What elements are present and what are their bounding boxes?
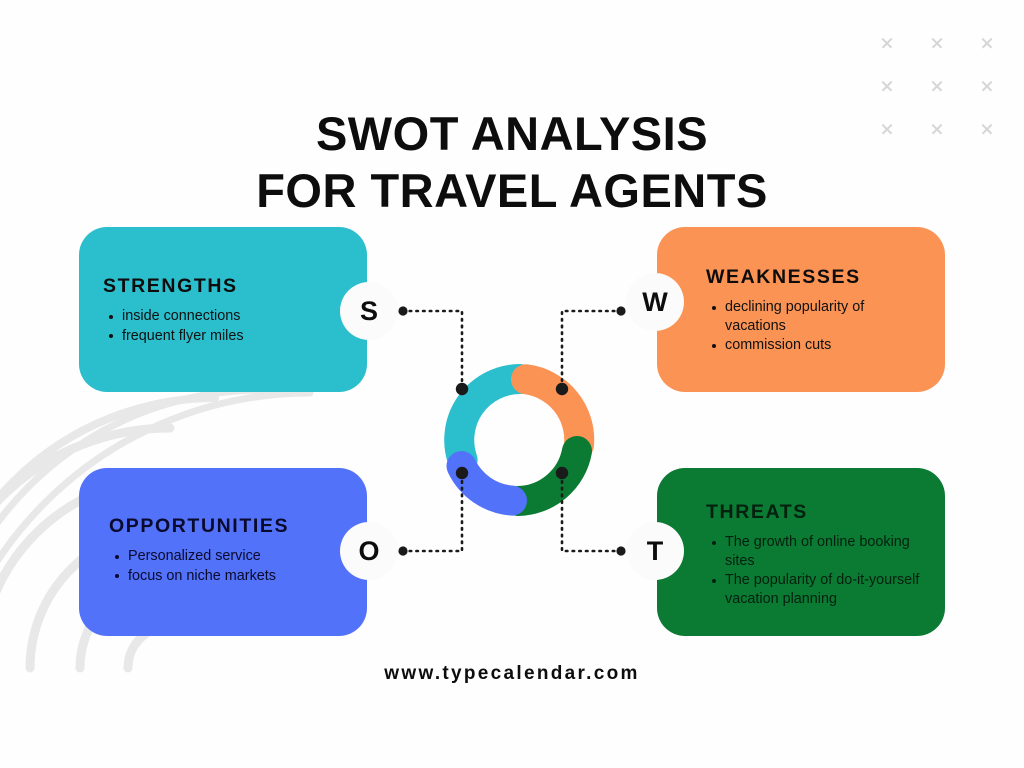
page-title: SWOT ANALYSIS FOR TRAVEL AGENTS — [0, 105, 1024, 219]
title-line-1: SWOT ANALYSIS — [0, 105, 1024, 162]
donut-segment-strengths — [459, 379, 520, 460]
letter-badge-strengths[interactable]: S — [340, 282, 398, 340]
connector-dot-t-start — [616, 546, 625, 555]
card-weaknesses[interactable]: WEAKNESSES declining popularity of vacat… — [657, 227, 945, 392]
list-item: focus on niche markets — [128, 567, 367, 586]
connector-dot-s-start — [398, 306, 407, 315]
list-item: inside connections — [122, 307, 367, 326]
donut-segment-weaknesses — [526, 379, 579, 445]
list-item: declining popularity of vacations — [725, 298, 925, 335]
card-threats[interactable]: THREATS The growth of online booking sit… — [657, 468, 945, 636]
card-title-threats: THREATS — [706, 501, 927, 524]
card-list-opportunities: Personalized service focus on niche mark… — [109, 547, 367, 585]
connector-dot-w-start — [616, 306, 625, 315]
donut-segment-opportunities — [462, 466, 513, 501]
letter-badge-weaknesses[interactable]: W — [626, 273, 684, 331]
card-list-weaknesses: declining popularity of vacations commis… — [706, 298, 925, 355]
close-icon — [962, 22, 1012, 65]
list-item: The growth of online booking sites — [725, 533, 927, 570]
card-opportunities[interactable]: OPPORTUNITIES Personalized service focus… — [79, 468, 367, 636]
card-title-strengths: STRENGTHS — [103, 275, 367, 298]
letter-badge-opportunities[interactable]: O — [340, 522, 398, 580]
close-icon — [962, 65, 1012, 108]
close-icon — [912, 65, 962, 108]
close-icon — [912, 22, 962, 65]
letter-badge-threats[interactable]: T — [626, 522, 684, 580]
title-line-2: FOR TRAVEL AGENTS — [0, 162, 1024, 219]
close-icon — [862, 22, 912, 65]
close-icon — [862, 65, 912, 108]
donut-chart — [437, 357, 603, 523]
swot-infographic: SWOT ANALYSIS FOR TRAVEL AGENTS — [0, 0, 1024, 768]
card-list-threats: The growth of online booking sites The p… — [706, 533, 927, 608]
donut-segment-threats — [518, 451, 577, 501]
list-item: commission cuts — [725, 336, 925, 355]
list-item: The popularity of do-it-yourself vacatio… — [725, 571, 927, 608]
card-title-weaknesses: WEAKNESSES — [706, 266, 925, 289]
card-title-opportunities: OPPORTUNITIES — [109, 515, 367, 538]
card-strengths[interactable]: STRENGTHS inside connections frequent fl… — [79, 227, 367, 392]
list-item: Personalized service — [128, 547, 367, 566]
footer-url: www.typecalendar.com — [0, 663, 1024, 685]
card-list-strengths: inside connections frequent flyer miles — [103, 307, 367, 345]
connector-dot-o-start — [398, 546, 407, 555]
list-item: frequent flyer miles — [122, 327, 367, 346]
